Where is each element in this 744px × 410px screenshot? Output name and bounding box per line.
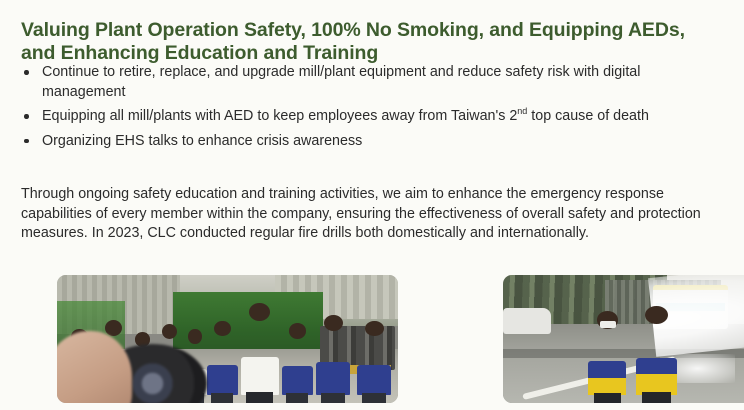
photo1-person-head xyxy=(324,315,343,332)
photo1-person-legs xyxy=(286,393,308,403)
photo-row: Employees in blue and yellow uniforms ru… xyxy=(17,259,727,387)
photo1-person-head xyxy=(365,321,384,337)
photo1-person-head xyxy=(289,323,306,339)
photo1-person-instructor xyxy=(241,321,279,395)
safety-content-page: Valuing Plant Operation Safety, 100% No … xyxy=(0,0,744,410)
bullet-dot-icon xyxy=(24,70,29,75)
photo1-person-torso xyxy=(357,365,391,396)
photo1-person-torso xyxy=(316,362,350,395)
photo2-person-face-mask-icon xyxy=(600,321,616,328)
photo1-person-torso xyxy=(282,366,313,395)
list-item: Equipping all mill/plants with AED to ke… xyxy=(21,107,726,127)
list-item-text: Equipping all mill/plants with AED to ke… xyxy=(42,108,649,124)
photo-evacuation-drill: Employees in blue and yellow uniforms ru… xyxy=(57,275,398,403)
photo2-person-nozzle-operator xyxy=(636,324,677,396)
list-item: Continue to retire, replace, and upgrade… xyxy=(21,63,726,102)
photo1-person xyxy=(357,336,391,395)
list-item-text: Organizing EHS talks to enhance crisis a… xyxy=(42,133,362,149)
photo1-person xyxy=(282,339,313,395)
list-item-text: Continue to retire, replace, and upgrade… xyxy=(42,64,640,100)
photo1-person-legs xyxy=(362,393,387,403)
photo2-parked-car xyxy=(503,308,551,334)
photo1-person-head xyxy=(162,324,177,339)
photo2-person-rear xyxy=(588,329,626,396)
safety-initiatives-list: Continue to retire, replace, and upgrade… xyxy=(21,63,726,156)
photo2-person-legs xyxy=(594,393,621,403)
photo1-person-legs xyxy=(246,392,273,403)
photo1-person-torso xyxy=(207,365,238,396)
photo1-person xyxy=(207,336,238,395)
photo1-person xyxy=(316,331,350,395)
ordinal-superscript: nd xyxy=(517,106,527,116)
bullet-dot-icon xyxy=(24,114,29,119)
list-item: Organizing EHS talks to enhance crisis a… xyxy=(21,132,726,152)
bullet-dot-icon xyxy=(24,139,29,144)
body-paragraph: Through ongoing safety education and tra… xyxy=(21,185,713,244)
photo2-person-legs xyxy=(642,392,671,403)
page-title: Valuing Plant Operation Safety, 100% No … xyxy=(21,19,711,65)
photo-fire-hose-drill: Two employees in blue and yellow uniform… xyxy=(503,275,744,403)
photo1-person-torso xyxy=(241,357,279,396)
photo1-person-head xyxy=(188,329,201,344)
photo2-person-head xyxy=(645,306,668,324)
photo1-person-legs xyxy=(211,393,233,403)
photo1-person-legs xyxy=(321,393,346,403)
